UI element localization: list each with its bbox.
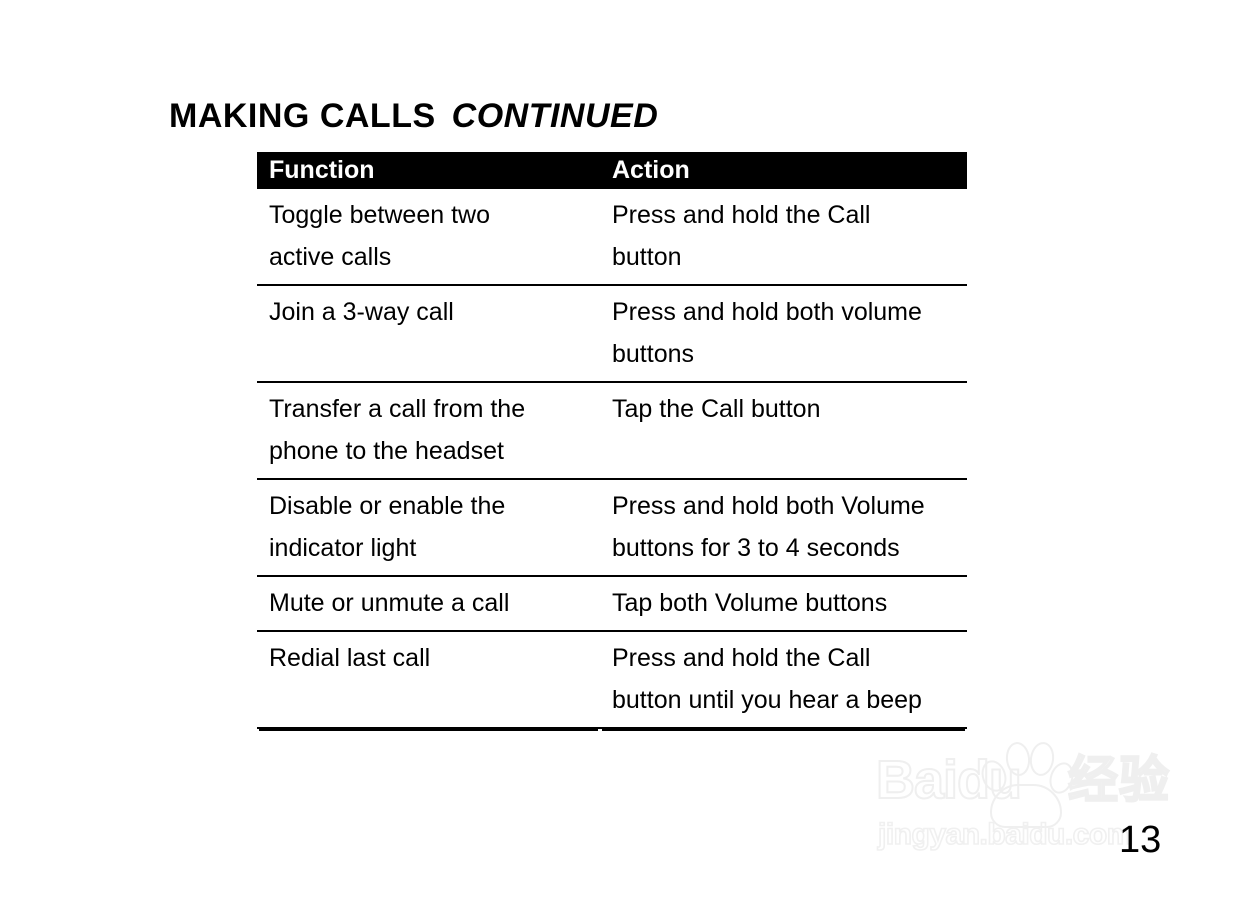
table-row: Transfer a call from the phone to the he…: [257, 382, 967, 479]
paw-toe: [978, 757, 1011, 795]
paw-toe: [1028, 740, 1056, 777]
table-header: Function Action: [257, 152, 967, 189]
page-title: MAKING CALLSCONTINUED: [169, 96, 658, 136]
cell-text-line: Press and hold both Volume: [612, 485, 957, 527]
cell-action: Press and hold the Call button: [600, 189, 967, 285]
cell-text-line: Join a 3-way call: [269, 291, 590, 333]
cell-action: Tap the Call button: [600, 382, 967, 479]
watermark-brand-text: Baidu: [876, 752, 1021, 808]
watermark-url-text: jingyan.baidu.com: [878, 818, 1133, 852]
cell-text-line: buttons: [612, 333, 957, 375]
cell-action: Tap both Volume buttons: [600, 576, 967, 631]
table-row: Disable or enable the indicator light Pr…: [257, 479, 967, 576]
cell-text-line: Press and hold both volume: [612, 291, 957, 333]
cell-text-line: Press and hold the Call: [612, 637, 957, 679]
cell-text-line: Press and hold the Call: [612, 194, 957, 236]
table-row: Mute or unmute a call Tap both Volume bu…: [257, 576, 967, 631]
cell-function: Redial last call: [257, 631, 600, 728]
cell-text-line: Disable or enable the: [269, 485, 590, 527]
cell-action: Press and hold the Call button until you…: [600, 631, 967, 728]
cell-text-line: active calls: [269, 236, 590, 278]
cell-function: Mute or unmute a call: [257, 576, 600, 631]
paw-pad: [990, 784, 1062, 828]
cell-text-line: Toggle between two: [269, 194, 590, 236]
watermark-brand-cn: 经验: [1068, 754, 1170, 806]
cell-text-line: phone to the headset: [269, 430, 590, 472]
page-title-main: MAKING CALLS: [169, 97, 436, 135]
cell-function: Transfer a call from the phone to the he…: [257, 382, 600, 479]
cell-function: Join a 3-way call: [257, 285, 600, 382]
paw-print-icon: [978, 740, 1070, 826]
cell-text-line: Tap the Call button: [612, 388, 957, 430]
page-number: 13: [1119, 818, 1161, 862]
watermark-logo-row: Baidu 经验: [872, 742, 1192, 808]
page-title-continued: CONTINUED: [452, 97, 659, 135]
document-page: MAKING CALLSCONTINUED Function Action To…: [0, 0, 1248, 908]
cell-text-line: button until you hear a beep: [612, 679, 957, 721]
table-body: Toggle between two active calls Press an…: [257, 189, 967, 728]
cell-function: Toggle between two active calls: [257, 189, 600, 285]
cell-text-line: Transfer a call from the: [269, 388, 590, 430]
paw-toe: [1046, 759, 1078, 797]
column-header-action: Action: [600, 152, 967, 189]
cell-text-line: Mute or unmute a call: [269, 582, 590, 624]
cell-action: Press and hold both Volume buttons for 3…: [600, 479, 967, 576]
paw-toe: [1004, 741, 1031, 777]
table-row: Redial last call Press and hold the Call…: [257, 631, 967, 728]
cell-text-line: indicator light: [269, 527, 590, 569]
cell-function: Disable or enable the indicator light: [257, 479, 600, 576]
table-row: Toggle between two active calls Press an…: [257, 189, 967, 285]
table-row: Join a 3-way call Press and hold both vo…: [257, 285, 967, 382]
cell-action: Press and hold both volume buttons: [600, 285, 967, 382]
table-header-row: Function Action: [257, 152, 967, 189]
cell-text-line: Tap both Volume buttons: [612, 582, 957, 624]
cell-text-line: button: [612, 236, 957, 278]
column-header-function: Function: [257, 152, 600, 189]
making-calls-table: Function Action Toggle between two activ…: [257, 152, 967, 729]
cell-text-line: Redial last call: [269, 637, 590, 679]
cell-text-line: buttons for 3 to 4 seconds: [612, 527, 957, 569]
